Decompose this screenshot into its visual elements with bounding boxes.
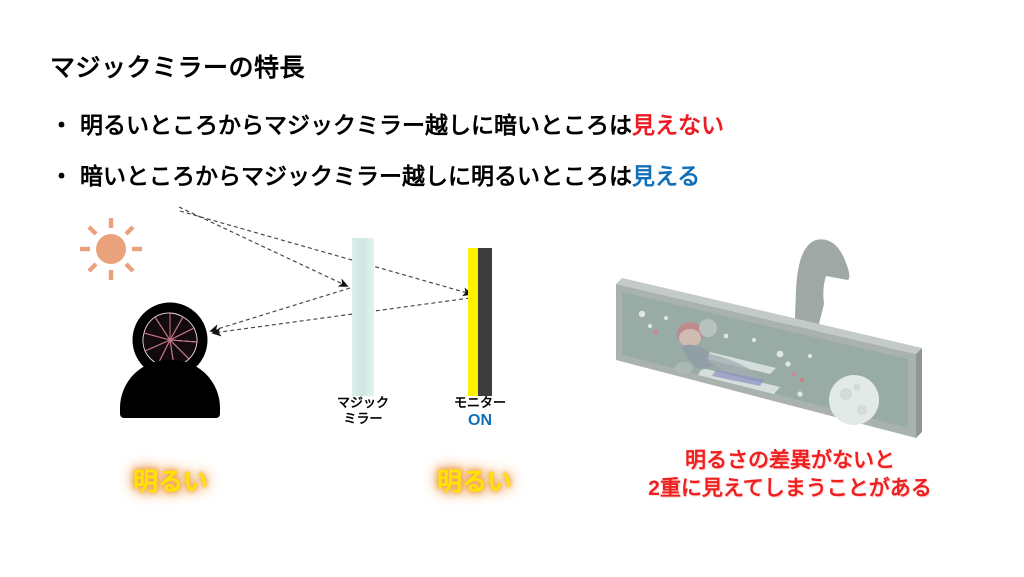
warning-caption-line2: 2重に見えてしまうことがある xyxy=(620,475,960,503)
warning-caption: 明るさの差異がないと 2重に見えてしまうことがある xyxy=(620,447,960,502)
bullet-highlight-blue: 見える xyxy=(632,157,700,191)
person-body-silhouette xyxy=(120,360,220,418)
monitor-screen-lit xyxy=(468,248,478,396)
monitor-body xyxy=(478,248,492,396)
brightness-label-left: 明るい xyxy=(133,462,208,498)
mirror-panel-3d-illustration xyxy=(598,228,964,450)
bullet-highlight-red: 見えない xyxy=(632,106,724,140)
magic-mirror-label-line2: ミラー xyxy=(324,411,402,427)
monitor-state-badge: ON xyxy=(440,411,520,431)
bullet-text-main: 明るいところからマジックミラー越しに暗いところは xyxy=(80,106,632,140)
bullet-item-1: ・ 明るいところからマジックミラー越しに暗いところは 見えない xyxy=(50,106,724,140)
magic-mirror-panel xyxy=(352,238,374,396)
magic-mirror-label: マジック ミラー xyxy=(324,395,402,428)
bullet-marker: ・ xyxy=(50,157,80,191)
bullet-item-2: ・ 暗いところからマジックミラー越しに明るいところは 見える xyxy=(50,157,700,191)
magic-mirror-label-line1: マジック xyxy=(324,395,402,411)
moon-circle xyxy=(829,375,879,425)
sun-icon xyxy=(78,216,144,282)
monitor-label: モニター ON xyxy=(440,395,520,431)
warning-caption-line1: 明るさの差異がないと xyxy=(620,447,960,475)
page-title: マジックミラーの特長 xyxy=(50,48,305,84)
monitor-label-text: モニター xyxy=(440,395,520,411)
bullet-marker: ・ xyxy=(50,106,80,140)
slide-canvas: マジックミラーの特長 ・ 明るいところからマジックミラー越しに暗いところは 見え… xyxy=(0,0,1024,577)
bullet-text-main: 暗いところからマジックミラー越しに明るいところは xyxy=(80,157,632,191)
brightness-label-right: 明るい xyxy=(437,462,512,498)
